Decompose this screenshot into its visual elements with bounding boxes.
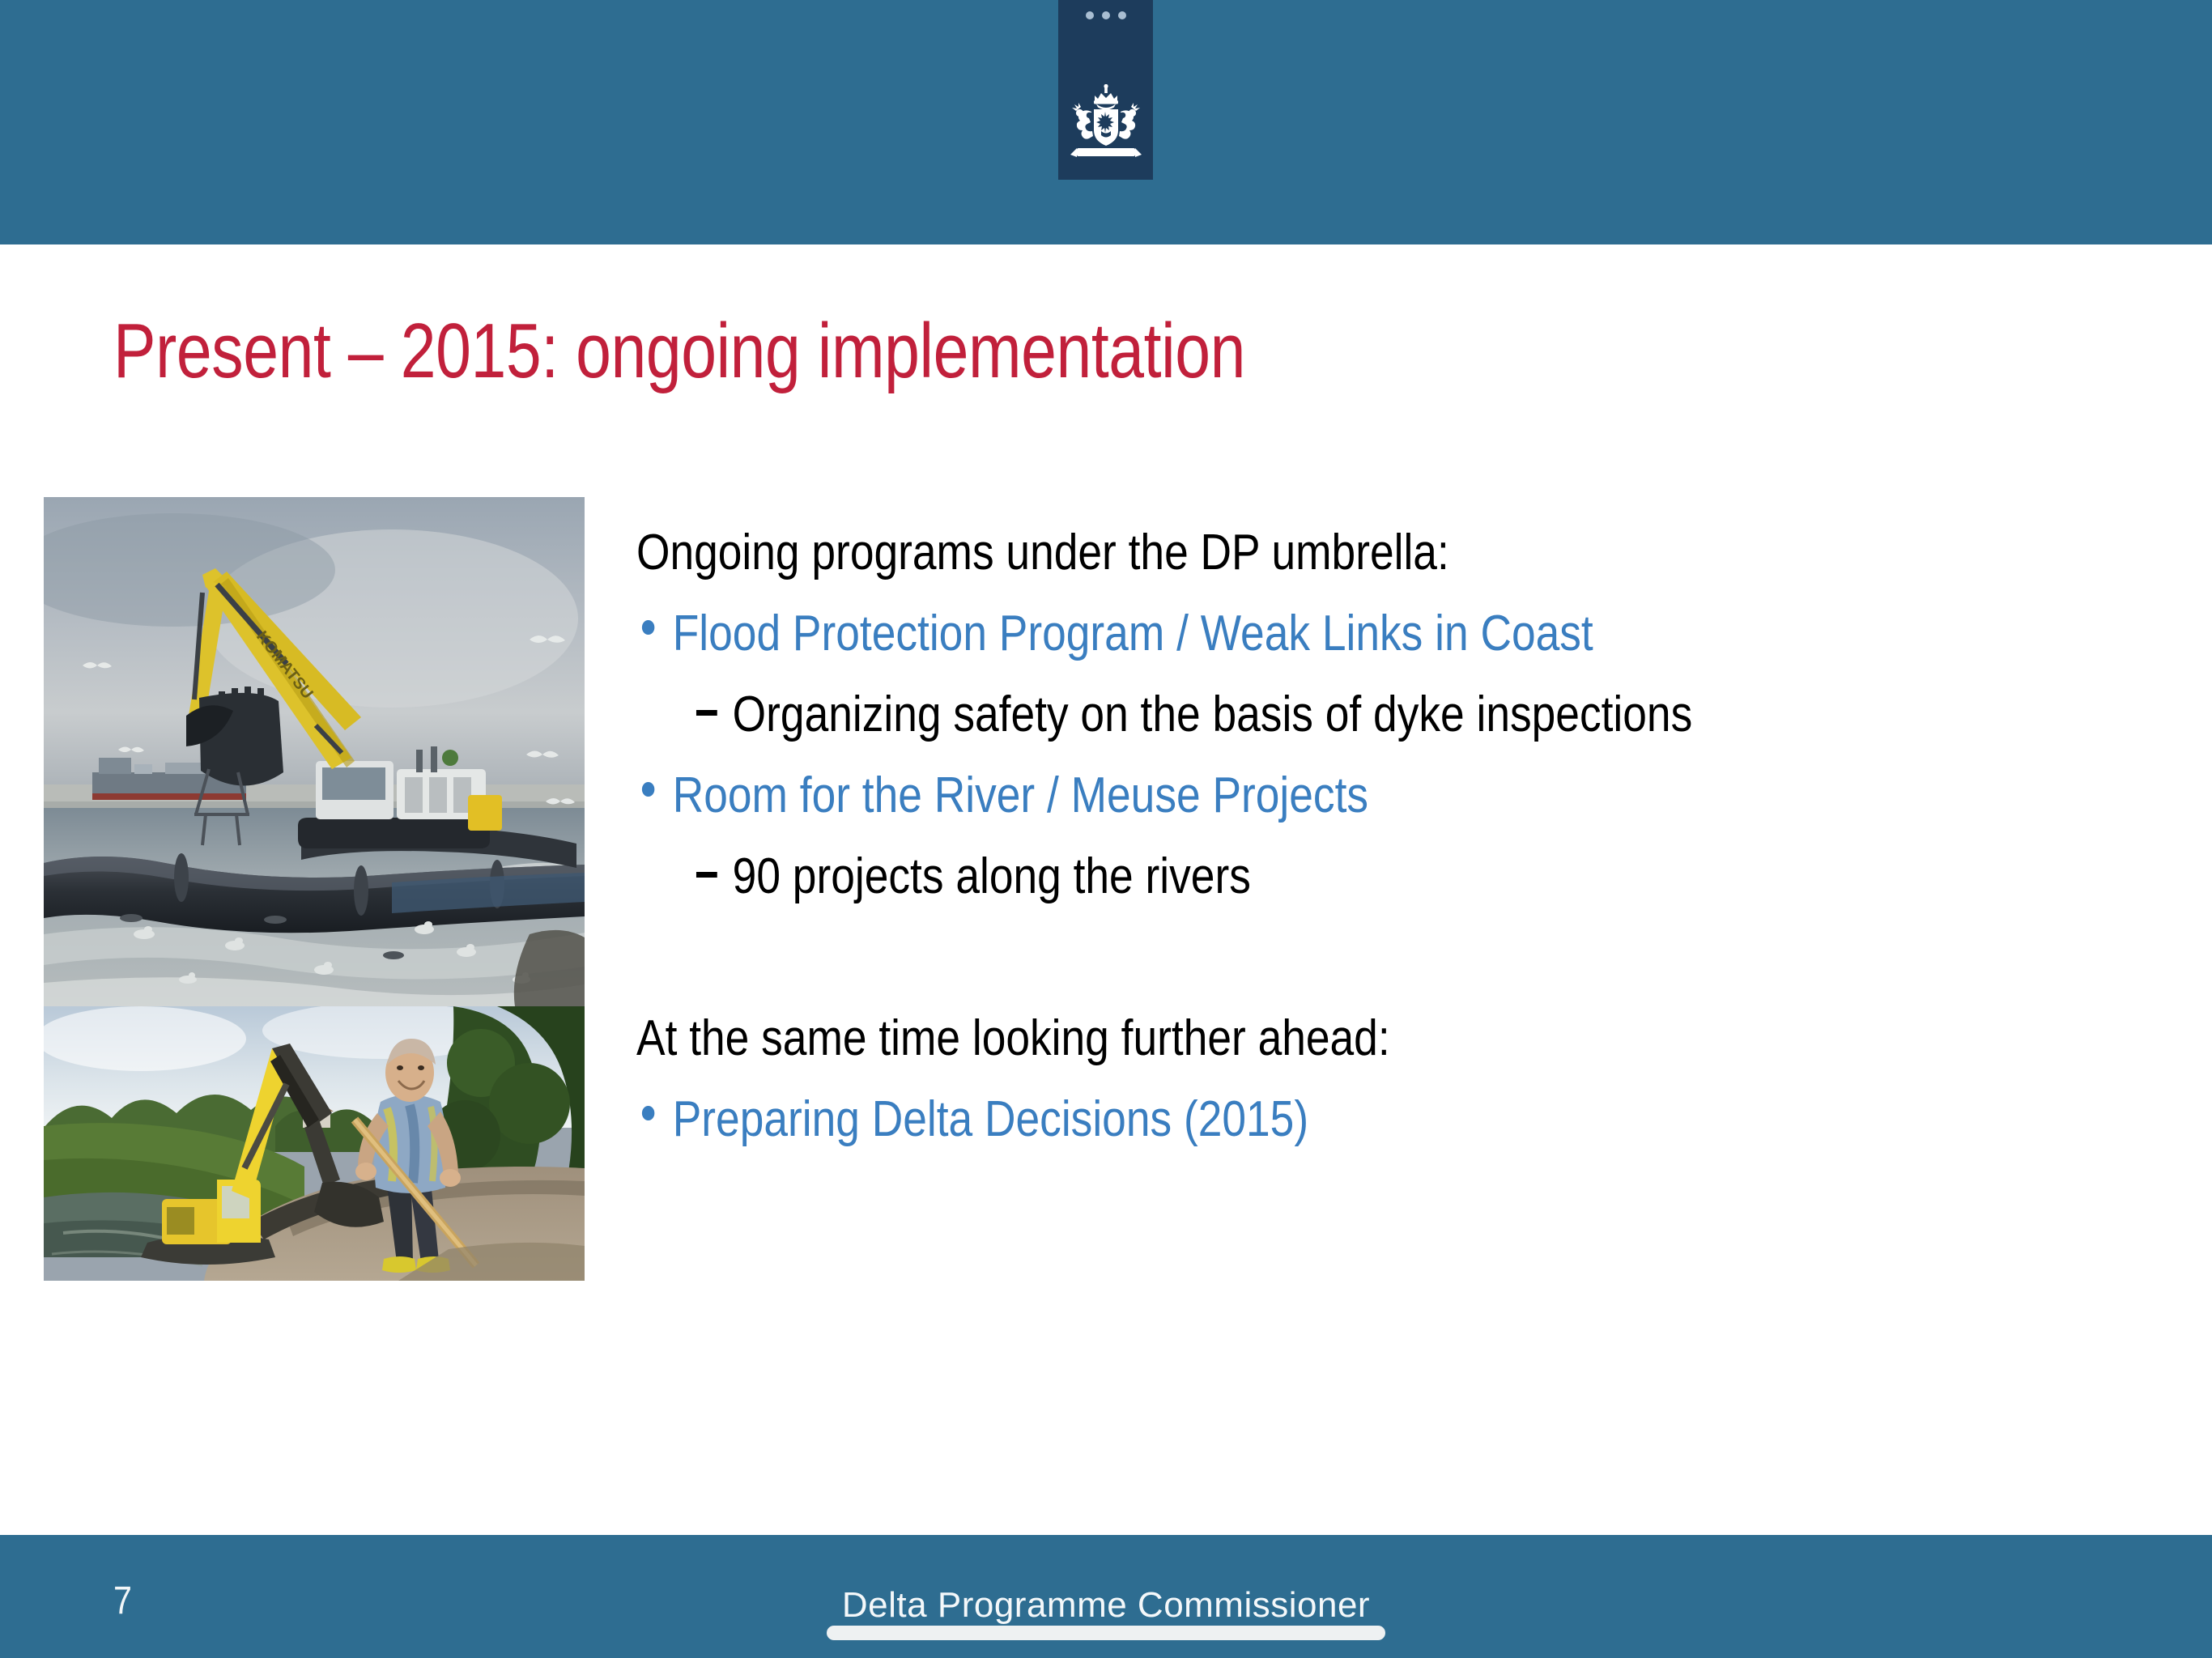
bullet-room-for-the-river-label: Room for the River / Meuse Projects	[673, 767, 1368, 823]
subbullet-dyke-inspections: Organizing safety on the basis of dyke i…	[636, 680, 1959, 761]
subbullet-90-projects: 90 projects along the rivers	[636, 842, 1959, 923]
bullet-flood-protection-program: Flood Protection Program / Weak Links in…	[636, 599, 1959, 680]
bullet-room-for-the-river: Room for the River / Meuse Projects	[636, 761, 1959, 842]
bullet-preparing-delta-decisions: Preparing Delta Decisions (2015)	[636, 1085, 1959, 1166]
three-dots-icon	[1058, 11, 1153, 19]
subbullet-90-projects-label: 90 projects along the rivers	[733, 848, 1251, 904]
coastal-dredging-photo: KOMATSU	[44, 497, 585, 1006]
bullet-dash-icon	[696, 872, 717, 878]
bullet-preparing-delta-decisions-label: Preparing Delta Decisions (2015)	[673, 1091, 1308, 1147]
body-heading-1: Ongoing programs under the DP umbrella:	[636, 518, 1959, 599]
bullet-flood-protection-program-label: Flood Protection Program / Weak Links in…	[673, 606, 1593, 661]
body-spacer	[636, 923, 2175, 1004]
header-band	[0, 0, 2212, 244]
netherlands-coat-of-arms-icon	[1067, 84, 1145, 168]
body-heading-1-label: Ongoing programs under the DP umbrella:	[636, 525, 1449, 580]
body-text-block: Ongoing programs under the DP umbrella: …	[636, 518, 2175, 1166]
bullet-dash-icon	[696, 710, 717, 716]
bullet-dot-icon	[642, 1106, 654, 1120]
slide: Present – 2015: ongoing implementation	[0, 0, 2212, 1658]
subbullet-dyke-inspections-label: Organizing safety on the basis of dyke i…	[733, 687, 1693, 742]
home-indicator[interactable]	[827, 1626, 1385, 1640]
rijksoverheid-logo-box	[1058, 0, 1153, 180]
body-heading-2-label: At the same time looking further ahead:	[636, 1010, 1390, 1066]
bullet-dot-icon	[642, 782, 654, 797]
slide-title: Present – 2015: ongoing implementation	[113, 309, 1707, 393]
bullet-dot-icon	[642, 620, 654, 635]
body-heading-2: At the same time looking further ahead:	[636, 1004, 1959, 1085]
footer-organisation-label: Delta Programme Commissioner	[0, 1585, 2212, 1626]
riverbank-works-photo	[44, 1006, 585, 1281]
